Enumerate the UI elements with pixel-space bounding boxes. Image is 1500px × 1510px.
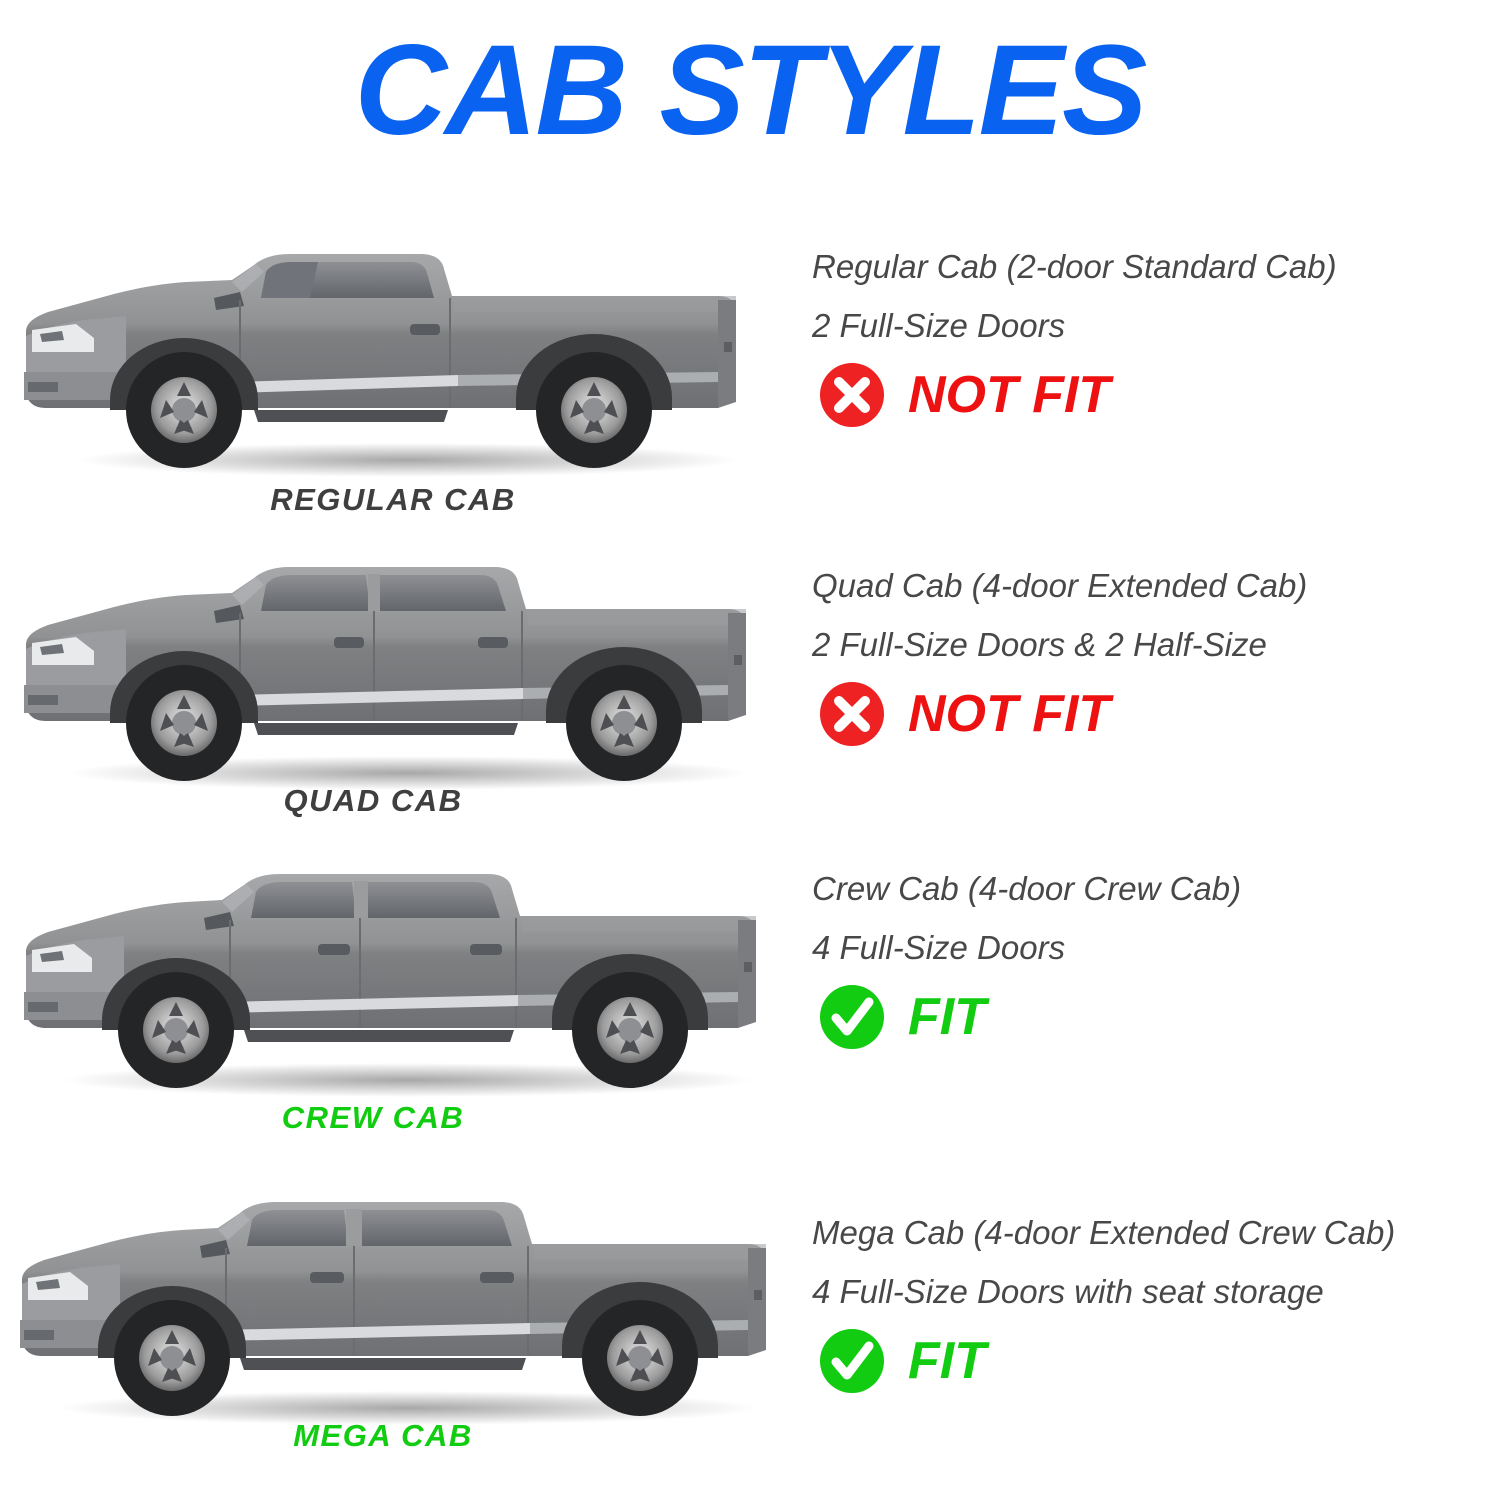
truck-stage [18,852,788,1107]
truck-illustration-quad-cab: QUAD CAB [18,545,788,845]
check-circle-icon [818,1327,886,1395]
pickup-truck-side-view-icon [18,852,788,1107]
truck-illustration-mega-cab: MEGA CAB [18,1180,788,1480]
truck-stage [18,232,788,487]
cab-style-row: QUAD CAB Quad Cab (4-door Extended Cab) … [0,545,1500,875]
cab-style-row: MEGA CAB Mega Cab (4-door Extended Crew … [0,1180,1500,1510]
cab-info-block: Mega Cab (4-door Extended Crew Cab) 4 Fu… [812,1212,1500,1401]
page-title: CAB STYLES [0,26,1500,157]
fitment-verdict: NOT FIT [818,674,1500,754]
cab-title: Quad Cab (4-door Extended Cab) [812,565,1500,606]
cab-label: MEGA CAB [0,1418,768,1454]
cab-label: REGULAR CAB [8,482,778,518]
cab-title: Crew Cab (4-door Crew Cab) [812,868,1500,909]
cab-info-block: Crew Cab (4-door Crew Cab) 4 Full-Size D… [812,868,1500,1057]
verdict-label: FIT [908,1331,986,1391]
verdict-label: FIT [908,987,986,1047]
verdict-label: NOT FIT [908,684,1110,744]
truck-illustration-regular-cab: REGULAR CAB [18,232,788,532]
cab-style-row: REGULAR CAB Regular Cab (2-door Standard… [0,232,1500,562]
cab-subtitle: 2 Full-Size Doors & 2 Half-Size [812,624,1500,665]
fitment-verdict: FIT [818,1321,1500,1401]
verdict-label: NOT FIT [908,365,1110,425]
pickup-truck-side-view-icon [18,545,788,800]
cab-label: CREW CAB [0,1100,758,1136]
cab-label: QUAD CAB [0,783,758,819]
cab-info-block: Regular Cab (2-door Standard Cab) 2 Full… [812,246,1500,435]
x-circle-icon [818,680,886,748]
cab-style-row: CREW CAB Crew Cab (4-door Crew Cab) 4 Fu… [0,852,1500,1182]
truck-stage [18,545,788,800]
x-circle-icon [818,361,886,429]
truck-stage [18,1180,788,1435]
truck-illustration-crew-cab: CREW CAB [18,852,788,1152]
fitment-verdict: NOT FIT [818,355,1500,435]
pickup-truck-side-view-icon [18,232,788,487]
cab-subtitle: 2 Full-Size Doors [812,305,1500,346]
cab-subtitle: 4 Full-Size Doors [812,927,1500,968]
fitment-verdict: FIT [818,977,1500,1057]
check-circle-icon [818,983,886,1051]
cab-title: Mega Cab (4-door Extended Crew Cab) [812,1212,1500,1253]
cab-info-block: Quad Cab (4-door Extended Cab) 2 Full-Si… [812,565,1500,754]
cab-subtitle: 4 Full-Size Doors with seat storage [812,1271,1500,1312]
pickup-truck-side-view-icon [18,1180,788,1435]
cab-title: Regular Cab (2-door Standard Cab) [812,246,1500,287]
